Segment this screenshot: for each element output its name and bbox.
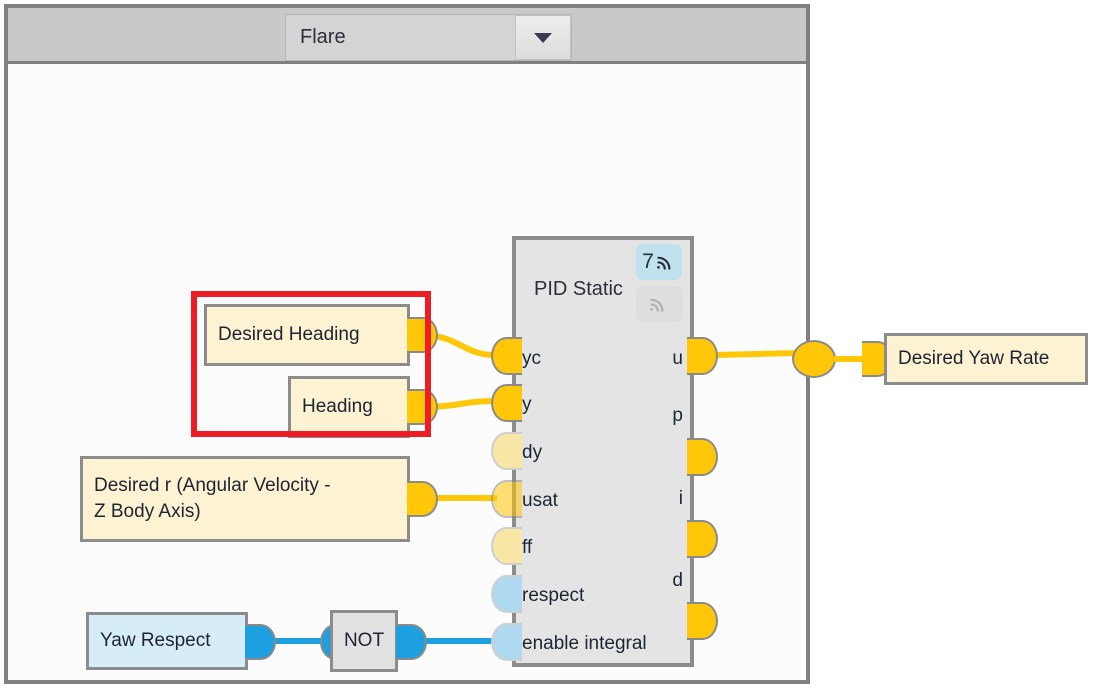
node-desired-yaw-rate-label: Desired Yaw Rate xyxy=(898,346,1049,372)
node-desired-yaw-rate[interactable]: Desired Yaw Rate xyxy=(884,333,1088,385)
